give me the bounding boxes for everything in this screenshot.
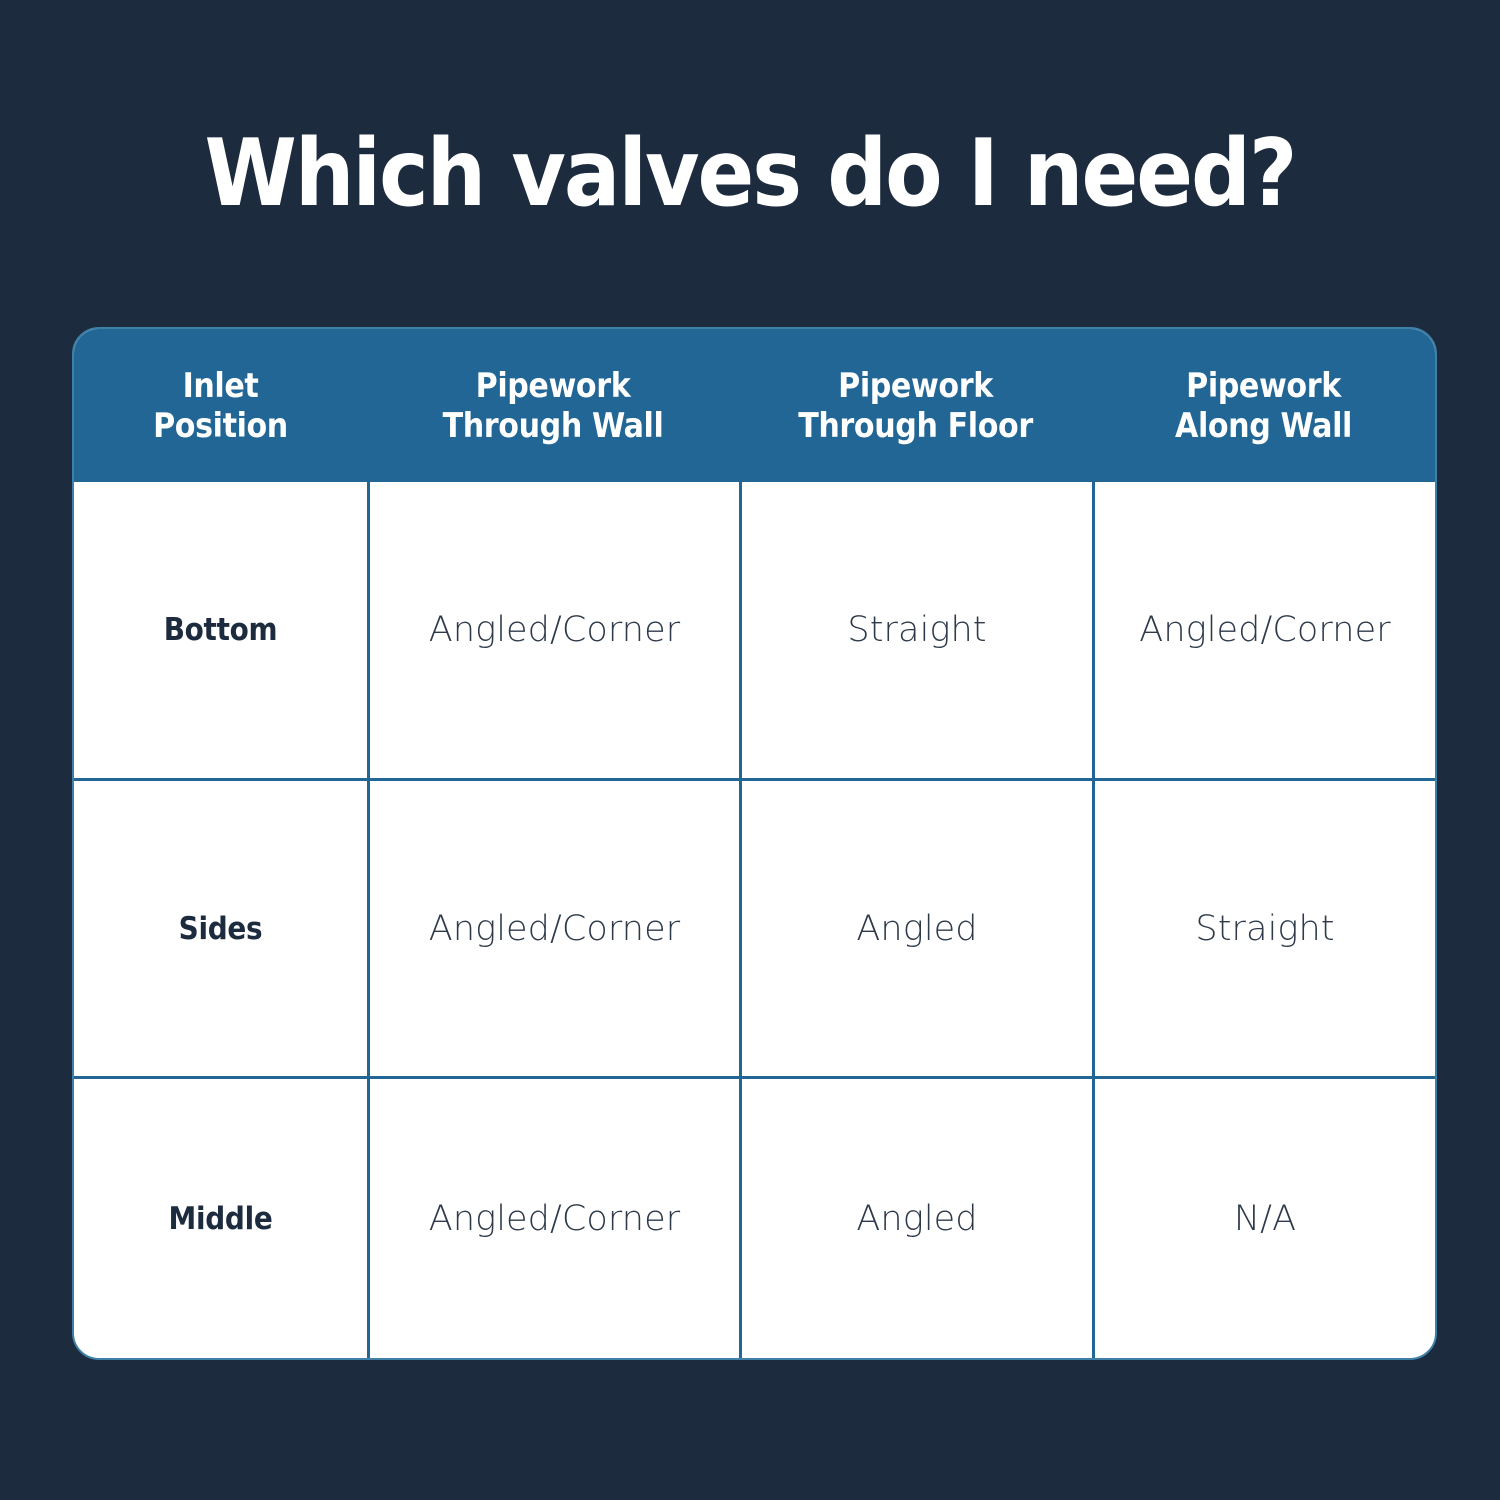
table-row: Sides Angled/Corner Angled Straight: [74, 778, 1435, 1076]
column-header-line-1: Pipework: [373, 366, 733, 406]
column-header-line-1: Pipework: [745, 366, 1086, 406]
cell-pipework-through-wall: Angled/Corner: [367, 1079, 739, 1358]
column-header-pipework-through-wall: Pipework Through Wall: [367, 366, 739, 446]
cell-pipework-through-floor: Straight: [739, 482, 1092, 778]
row-label-inlet-position: Sides: [74, 781, 367, 1076]
cell-pipework-through-floor: Angled: [739, 1079, 1092, 1358]
cell-pipework-along-wall: Angled/Corner: [1092, 482, 1435, 778]
column-header-inlet-position: Inlet Position: [74, 366, 367, 446]
cell-pipework-along-wall: N/A: [1092, 1079, 1435, 1358]
table-body: Bottom Angled/Corner Straight Angled/Cor…: [74, 482, 1435, 1358]
column-header-line-1: Inlet: [80, 366, 361, 406]
valve-selection-table: Inlet Position Pipework Through Wall Pip…: [72, 327, 1437, 1360]
row-label-inlet-position: Middle: [74, 1079, 367, 1358]
column-header-line-2: Position: [80, 406, 361, 446]
table-header-row: Inlet Position Pipework Through Wall Pip…: [74, 329, 1435, 482]
page-title: Which valves do I need?: [0, 118, 1500, 228]
table-row: Middle Angled/Corner Angled N/A: [74, 1076, 1435, 1358]
column-header-line-2: Through Wall: [373, 406, 733, 446]
cell-pipework-along-wall: Straight: [1092, 781, 1435, 1076]
row-label-inlet-position: Bottom: [74, 482, 367, 778]
column-header-line-1: Pipework: [1098, 366, 1429, 406]
column-header-line-2: Along Wall: [1098, 406, 1429, 446]
cell-pipework-through-wall: Angled/Corner: [367, 482, 739, 778]
column-header-pipework-through-floor: Pipework Through Floor: [739, 366, 1092, 446]
column-header-line-2: Through Floor: [745, 406, 1086, 446]
cell-pipework-through-wall: Angled/Corner: [367, 781, 739, 1076]
table-row: Bottom Angled/Corner Straight Angled/Cor…: [74, 482, 1435, 778]
cell-pipework-through-floor: Angled: [739, 781, 1092, 1076]
column-header-pipework-along-wall: Pipework Along Wall: [1092, 366, 1435, 446]
